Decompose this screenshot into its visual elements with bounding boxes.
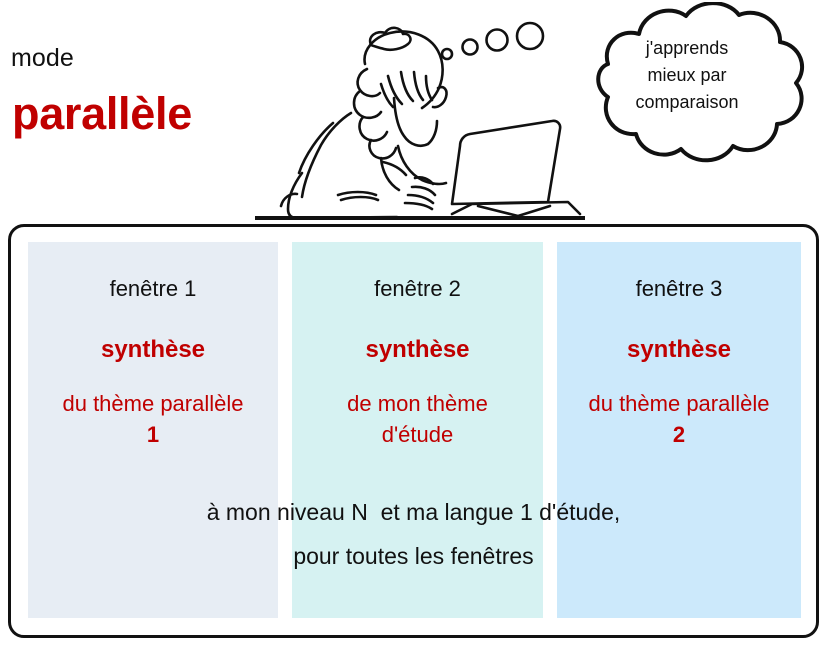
synthese-subtitle-line2-3: 2 [553, 419, 805, 450]
synthese-subtitle-line1-2: de mon thème [347, 391, 488, 416]
synthese-heading-2: synthèse [292, 336, 543, 364]
window-panel-1[interactable]: fenêtre 1 synthèse du thème parallèle 1 [28, 242, 278, 618]
mode-title: parallèle [12, 88, 192, 140]
synthese-heading-3: synthèse [557, 336, 801, 364]
window-panel-2[interactable]: fenêtre 2 synthèse de mon thème d'étude [292, 242, 543, 618]
synthese-subtitle-line2-1: 1 [24, 419, 282, 450]
synthese-heading-1: synthèse [28, 336, 278, 364]
synthese-subtitle-2: de mon thème d'étude [288, 388, 547, 450]
bubble-line-2: mieux par [597, 62, 777, 89]
synthese-subtitle-line2-2: d'étude [288, 419, 547, 450]
window-label-2: fenêtre 2 [292, 276, 543, 302]
thought-bubble-text: j'apprends mieux par comparaison [597, 35, 777, 116]
student-at-laptop-illustration [255, 6, 585, 224]
window-label-3: fenêtre 3 [557, 276, 801, 302]
mode-label: mode [11, 44, 74, 73]
synthese-subtitle-3: du thème parallèle 2 [553, 388, 805, 450]
bubble-line-3: comparaison [597, 89, 777, 116]
window-label-1: fenêtre 1 [28, 276, 278, 302]
window-panel-3[interactable]: fenêtre 3 synthèse du thème parallèle 2 [557, 242, 801, 618]
bubble-line-1: j'apprends [597, 35, 777, 62]
synthese-subtitle-line1-3: du thème parallèle [588, 391, 769, 416]
thought-bubble: j'apprends mieux par comparaison [545, 2, 829, 177]
synthese-subtitle-line1-1: du thème parallèle [62, 391, 243, 416]
synthese-subtitle-1: du thème parallèle 1 [24, 388, 282, 450]
